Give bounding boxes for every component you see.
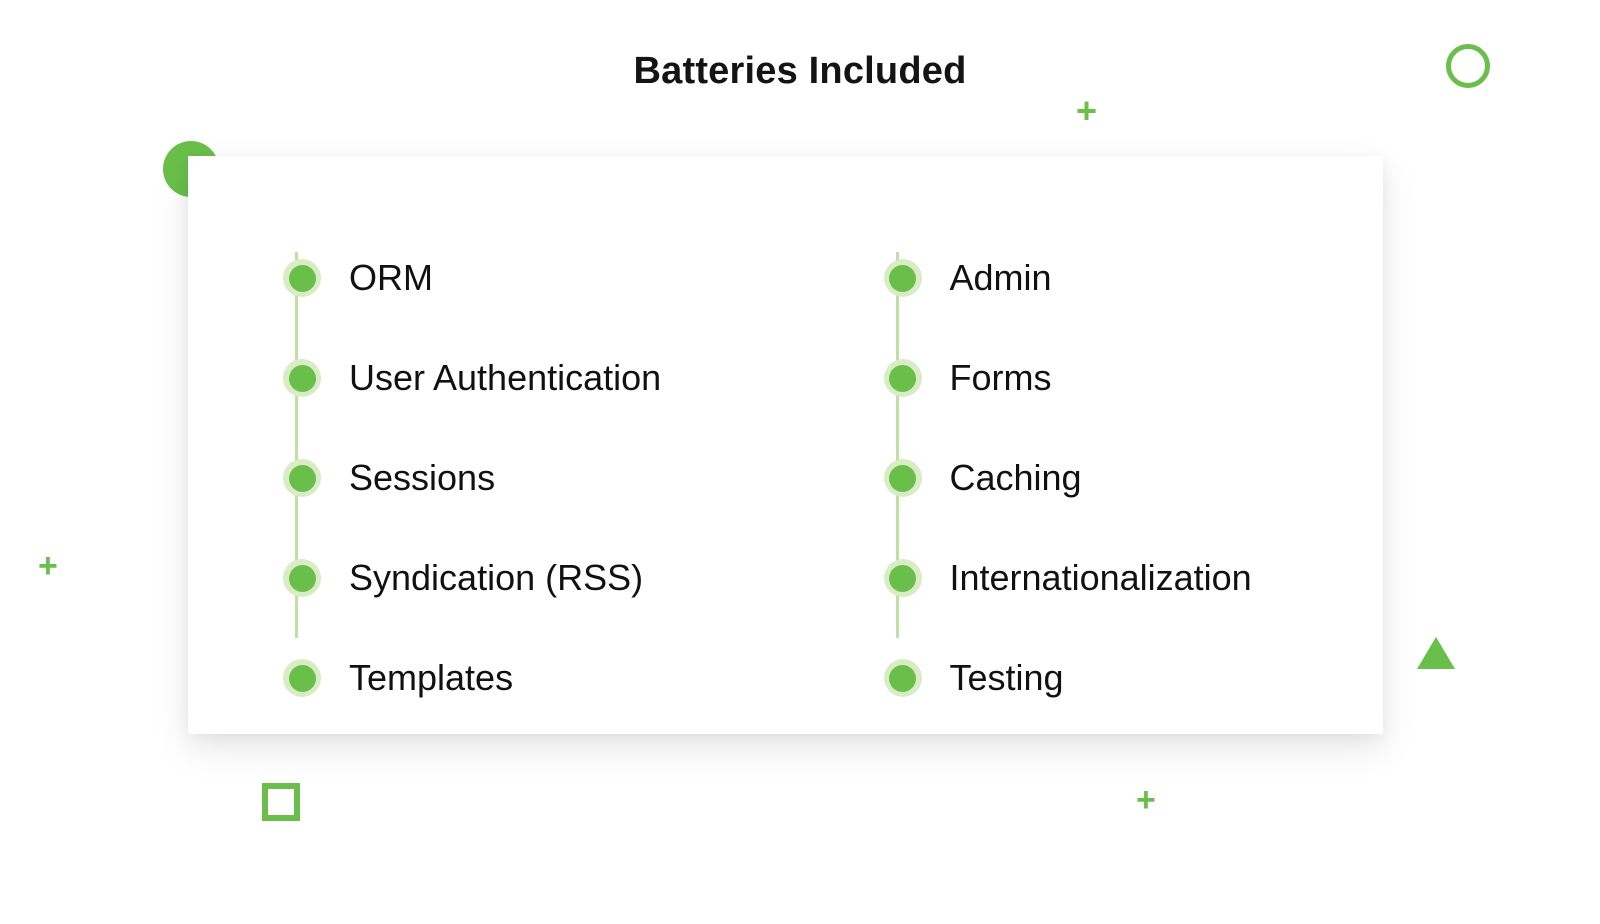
bullet-dot-icon <box>282 458 322 498</box>
bullet-dot-icon <box>282 258 322 298</box>
list-item-label: Admin <box>950 260 1052 296</box>
list-item[interactable]: Templates <box>282 628 783 728</box>
list-item-label: Templates <box>349 660 513 696</box>
bullet-dot-icon <box>883 658 923 698</box>
list-item[interactable]: Forms <box>883 328 1384 428</box>
bullet-dot-icon <box>883 458 923 498</box>
plus-shape-top: + <box>1076 93 1097 129</box>
list-item-label: Internationalization <box>950 560 1252 596</box>
list-item[interactable]: Testing <box>883 628 1384 728</box>
bullet-dot-icon <box>883 358 923 398</box>
plus-shape-bottom: + <box>1136 783 1156 817</box>
list-item-label: Forms <box>950 360 1052 396</box>
list-item-label: Syndication (RSS) <box>349 560 643 596</box>
list-item-label: Sessions <box>349 460 495 496</box>
bullet-dot-icon <box>883 258 923 298</box>
features-columns: ORM User Authentication Sessions Syndica… <box>188 156 1383 734</box>
page-title: Batteries Included <box>0 52 1600 90</box>
list-item-label: Caching <box>950 460 1082 496</box>
list-item[interactable]: Internationalization <box>883 528 1384 628</box>
plus-shape-left: + <box>38 549 58 583</box>
list-item-label: Testing <box>950 660 1064 696</box>
list-item[interactable]: User Authentication <box>282 328 783 428</box>
list-item[interactable]: Sessions <box>282 428 783 528</box>
list-item[interactable]: ORM <box>282 228 783 328</box>
list-item-label: User Authentication <box>349 360 661 396</box>
list-item[interactable]: Admin <box>883 228 1384 328</box>
left-column: ORM User Authentication Sessions Syndica… <box>188 156 783 734</box>
outline-square-shape <box>262 783 300 821</box>
bullet-dot-icon <box>883 558 923 598</box>
bullet-dot-icon <box>282 658 322 698</box>
features-card: ORM User Authentication Sessions Syndica… <box>188 156 1383 734</box>
bullet-dot-icon <box>282 358 322 398</box>
right-column: Admin Forms Caching Internationalization <box>783 156 1384 734</box>
triangle-shape <box>1417 637 1455 669</box>
outline-circle-shape <box>1446 44 1490 88</box>
list-item[interactable]: Syndication (RSS) <box>282 528 783 628</box>
list-item[interactable]: Caching <box>883 428 1384 528</box>
list-item-label: ORM <box>349 260 433 296</box>
bullet-dot-icon <box>282 558 322 598</box>
